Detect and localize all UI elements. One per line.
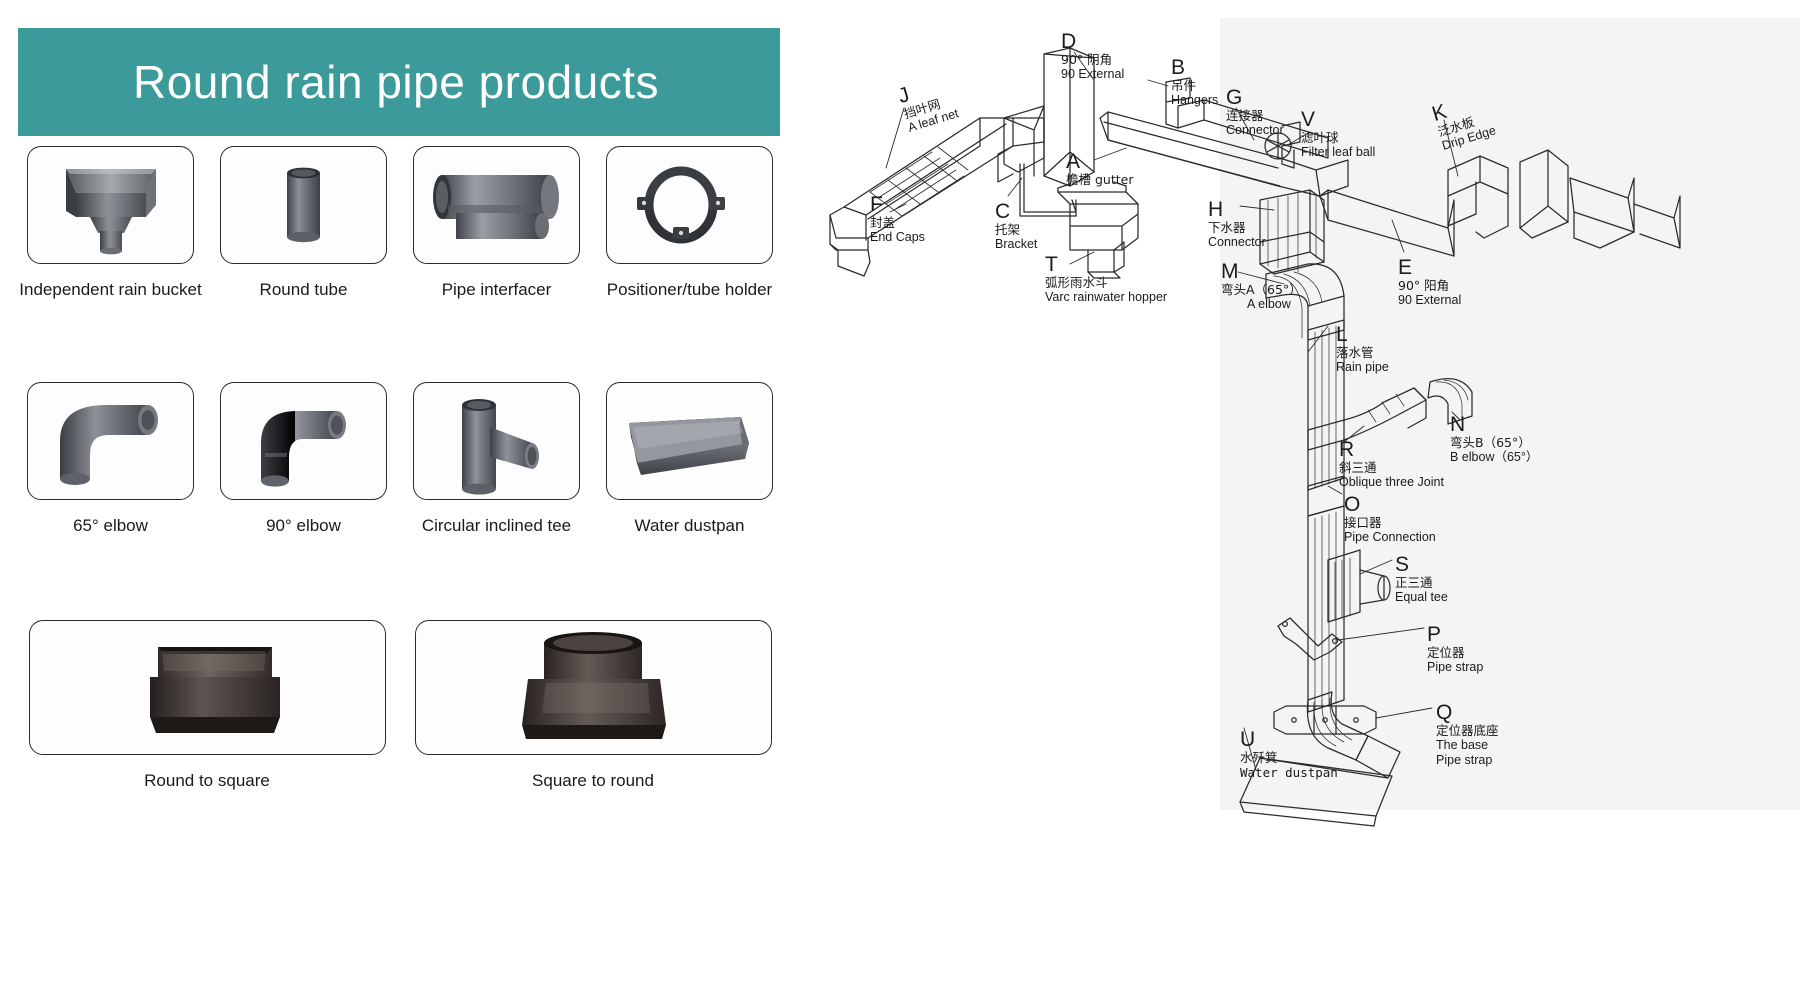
callout-cn-B: 吊件 (1171, 78, 1218, 93)
callout-letter-B: B (1171, 58, 1218, 78)
callout-letter-N: N (1450, 415, 1538, 435)
callout-cn-L: 落水管 (1336, 345, 1389, 360)
callout-B: B 吊件 Hangers (1171, 58, 1218, 108)
callout-cn-P: 定位器 (1427, 645, 1483, 660)
product-label: Round to square (144, 771, 270, 791)
callout-V: V 滤叶球 Filter leaf ball (1301, 110, 1375, 160)
callout-L: L 落水管 Rain pipe (1336, 325, 1389, 375)
callout-letter-H: H (1208, 200, 1266, 220)
product-card-independent-rain-bucket[interactable]: Independent rain bucket (14, 146, 207, 300)
callout-cn-V: 滤叶球 (1301, 130, 1375, 145)
product-row: 65° elbow (14, 382, 786, 536)
callout-N: N 弯头B（65°） B elbow（65°） (1450, 415, 1538, 465)
product-label: Pipe interfacer (442, 280, 552, 300)
callout-letter-L: L (1336, 325, 1389, 345)
product-image-elbow-65 (27, 382, 194, 500)
callout-en-O: Pipe Connection (1344, 530, 1436, 545)
product-label: 65° elbow (73, 516, 148, 536)
product-card-square-to-round[interactable]: Square to round (400, 620, 786, 791)
callout-en-P: Pipe strap (1427, 660, 1483, 675)
callout-letter-R: R (1339, 440, 1444, 460)
callout-cn-R: 斜三通 (1339, 460, 1444, 475)
callout-cn-D: 90° 阴角 (1061, 52, 1124, 67)
callout-letter-M: M (1221, 262, 1302, 282)
callout-en2-Q: Pipe strap (1436, 753, 1499, 768)
callout-P: P 定位器 Pipe strap (1427, 625, 1483, 675)
callout-en-G: Connector (1226, 123, 1284, 138)
callout-en-N: B elbow（65°） (1450, 450, 1538, 465)
products-panel: Round rain pipe products (0, 0, 800, 1000)
callout-cn-U: 水歼箕 (1240, 750, 1338, 765)
product-image-elbow-90 (220, 382, 387, 500)
row-spacer (14, 300, 786, 382)
callout-A: A 檐槽 gutter (1066, 152, 1133, 187)
product-card-water-dustpan[interactable]: Water dustpan (593, 382, 786, 536)
product-label: Water dustpan (635, 516, 745, 536)
callout-en-E: 90 External (1398, 293, 1461, 308)
callout-C: C 托架 Bracket (995, 202, 1037, 252)
callout-letter-D: D (1061, 32, 1124, 52)
page-title: Round rain pipe products (133, 55, 659, 109)
callout-en-V: Filter leaf ball (1301, 145, 1375, 160)
callout-en-M: A elbow (1247, 297, 1302, 312)
callout-cn-H: 下水器 (1208, 220, 1266, 235)
callout-en-U: Water dustpan (1240, 765, 1338, 780)
row-spacer (14, 536, 786, 620)
callout-S: S 正三通 Equal tee (1395, 555, 1448, 605)
product-image-water-dustpan (606, 382, 773, 500)
product-image-positioner-tube-holder (606, 146, 773, 264)
system-diagram-panel: J 挡叶网 A leaf net D 90° 阴角 90 External B … (808, 0, 1800, 1000)
callout-R: R 斜三通 Oblique three Joint (1339, 440, 1444, 490)
product-image-pipe-interfacer (413, 146, 580, 264)
product-label: Independent rain bucket (19, 280, 201, 300)
callout-letter-G: G (1226, 88, 1284, 108)
callout-cn-N: 弯头B（65°） (1450, 435, 1538, 450)
callout-E: E 90° 阳角 90 External (1398, 258, 1461, 308)
callout-en-S: Equal tee (1395, 590, 1448, 605)
callout-Q: Q 定位器底座 The base Pipe strap (1436, 703, 1499, 768)
callout-en-C: Bracket (995, 237, 1037, 252)
callout-cn-F: 封盖 (870, 215, 925, 230)
callout-letter-P: P (1427, 625, 1483, 645)
product-row: Independent rain bucket (14, 146, 786, 300)
callout-letter-T: T (1045, 255, 1167, 275)
callout-letter-O: O (1344, 495, 1436, 515)
callout-U: U 水歼箕 Water dustpan (1240, 730, 1338, 780)
callout-letter-F: F (870, 195, 925, 215)
product-image-circular-inclined-tee (413, 382, 580, 500)
callout-cn-A: 檐槽 gutter (1066, 172, 1133, 187)
callout-cn-S: 正三通 (1395, 575, 1448, 590)
callout-letter-A: A (1066, 152, 1133, 172)
product-row: Round to square (14, 620, 786, 791)
product-grid: Independent rain bucket (14, 146, 786, 791)
callout-cn-Q: 定位器底座 (1436, 723, 1499, 738)
callout-letter-V: V (1301, 110, 1375, 130)
callout-O: O 接口器 Pipe Connection (1344, 495, 1436, 545)
callout-H: H 下水器 Connector (1208, 200, 1266, 250)
product-card-circular-inclined-tee[interactable]: Circular inclined tee (400, 382, 593, 536)
title-banner: Round rain pipe products (18, 28, 780, 136)
callout-cn-G: 连接器 (1226, 108, 1284, 123)
callout-T: T 弧形雨水斗 Varc rainwater hopper (1045, 255, 1167, 305)
callout-en-T: Varc rainwater hopper (1045, 290, 1167, 305)
callout-letter-S: S (1395, 555, 1448, 575)
product-card-round-to-square[interactable]: Round to square (14, 620, 400, 791)
callout-letter-U: U (1240, 730, 1338, 750)
callout-en-R: Oblique three Joint (1339, 475, 1444, 490)
product-image-square-to-round (415, 620, 772, 755)
callout-cn-T: 弧形雨水斗 (1045, 275, 1167, 290)
product-card-elbow-90[interactable]: 90° elbow (207, 382, 400, 536)
product-card-round-tube[interactable]: Round tube (207, 146, 400, 300)
product-label: Circular inclined tee (422, 516, 571, 536)
callout-cn-E: 90° 阳角 (1398, 278, 1461, 293)
product-image-round-to-square (29, 620, 386, 755)
product-image-independent-rain-bucket (27, 146, 194, 264)
product-label: 90° elbow (266, 516, 341, 536)
callout-en-B: Hangers (1171, 93, 1218, 108)
callout-en-L: Rain pipe (1336, 360, 1389, 375)
callout-G: G 连接器 Connector (1226, 88, 1284, 138)
callout-en-H: Connector (1208, 235, 1266, 250)
product-image-round-tube (220, 146, 387, 264)
callout-letter-E: E (1398, 258, 1461, 278)
product-card-pipe-interfacer[interactable]: Pipe interfacer (400, 146, 593, 300)
product-label: Positioner/tube holder (607, 280, 772, 300)
callout-letter-C: C (995, 202, 1037, 222)
callout-en-Q: The base (1436, 738, 1499, 753)
callout-cn-O: 接口器 (1344, 515, 1436, 530)
callout-M: M 弯头A（65°） A elbow (1221, 262, 1302, 312)
callout-F: F 封盖 End Caps (870, 195, 925, 245)
product-label: Round tube (260, 280, 348, 300)
callout-en-F: End Caps (870, 230, 925, 245)
product-card-positioner-tube-holder[interactable]: Positioner/tube holder (593, 146, 786, 300)
product-label: Square to round (532, 771, 654, 791)
callout-cn-C: 托架 (995, 222, 1037, 237)
callout-letter-Q: Q (1436, 703, 1499, 723)
product-card-elbow-65[interactable]: 65° elbow (14, 382, 207, 536)
callout-D: D 90° 阴角 90 External (1061, 32, 1124, 82)
callout-en-D: 90 External (1061, 67, 1124, 82)
callout-cn-M: 弯头A（65°） (1221, 282, 1302, 297)
